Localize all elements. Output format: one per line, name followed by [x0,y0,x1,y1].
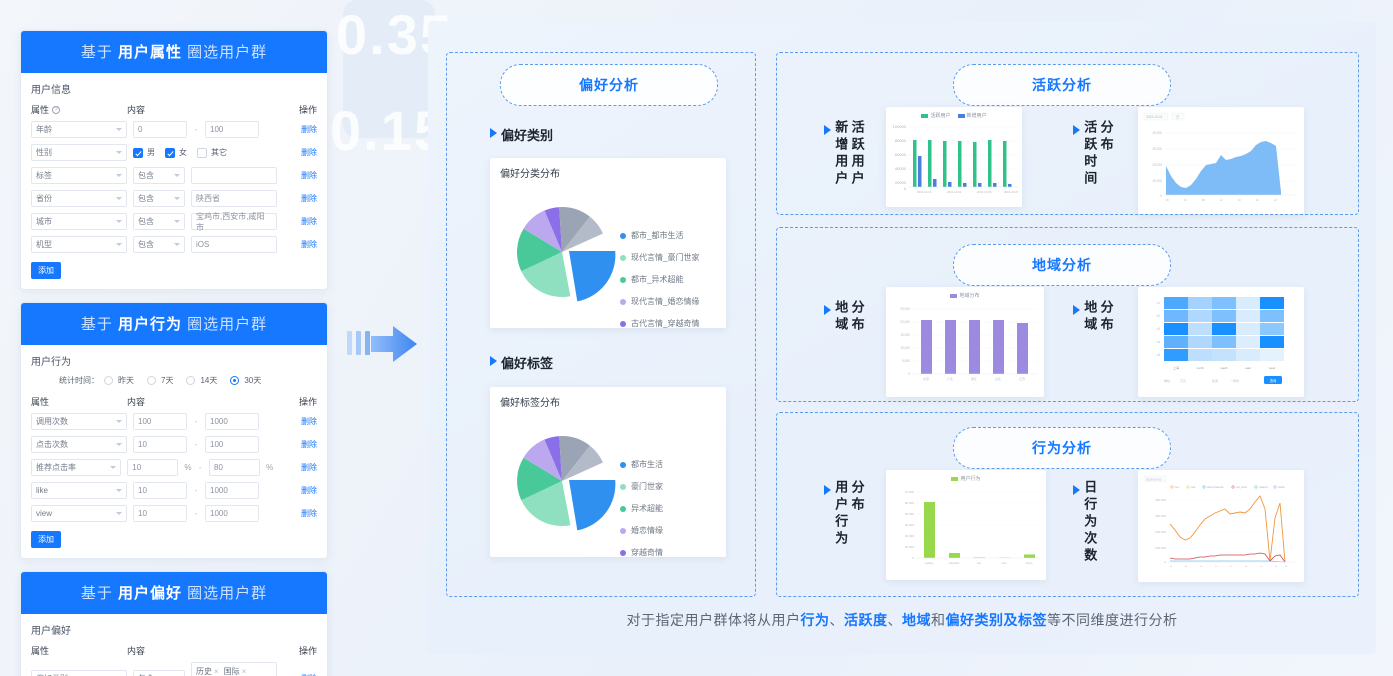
add-button[interactable]: 添加 [31,262,61,279]
column-headers: 属性 内容 操作 [31,395,317,408]
svg-text:20000: 20000 [895,180,907,185]
delete-link[interactable]: 删除 [283,485,317,496]
svg-text:add-to-favorite: add-to-favorite [1207,485,1224,489]
gender-checkbox-group: 男 女 其它 [133,147,277,158]
triangle-icon [824,305,831,315]
svg-text:east: east [1245,366,1251,370]
radio-30days[interactable] [230,376,239,385]
triangle-icon [1073,485,1080,495]
legend-item: 古代言情_穿越奇情 [620,318,699,328]
svg-text:west: west [1269,366,1275,370]
attribute-select[interactable]: 点击次数 [31,436,127,453]
delete-link[interactable]: 删除 [283,216,317,227]
subtitle-label: 偏好标签 [501,353,553,372]
legend-item: 现代言情_豪门世家 [620,252,699,263]
svg-text:2019-10-05: 2019-10-05 [977,190,992,194]
svg-text:others: others [1025,561,1033,565]
help-icon[interactable]: ? [52,106,60,114]
svg-text:查询: 查询 [1270,378,1276,383]
panel-title-suffix: 圈选用户群 [182,316,267,333]
legend-item: 都市生活 [620,459,663,470]
table-row: 城市 包含 宝鸡市,西安市,咸阳市 删除 [31,213,317,230]
svg-text:08: 08 [1202,199,1205,202]
checkbox-female[interactable] [165,148,175,158]
vlabel-distribution: 分布 [1098,300,1112,334]
card-user-behavior-bar: 用户行为 70,000 60,000 50,000 40,000 30,000 … [886,470,1046,580]
legend-dot [620,462,626,468]
svg-text:20,000: 20,000 [1152,163,1162,167]
min-input[interactable]: 0 [133,121,187,138]
legend-label: 穿越奇情 [631,547,663,557]
legend-item: 豪门世家 [620,481,663,492]
card-new-active-users-bar: 活跃用户 新增用户 100000 80000 60000 40000 20000… [886,107,1022,207]
chevron-down-icon [110,466,116,469]
bar-chart: 70,000 60,000 50,000 40,000 30,000 20,00… [886,482,1046,574]
svg-text:south: south [1220,366,1228,370]
svg-text:50,000: 50,000 [905,512,915,516]
attribute-select[interactable]: 偏好类别 [31,670,127,676]
legend-label: 现代言情_豪门世家 [631,252,699,263]
max-input[interactable]: 1000 [205,482,259,499]
caption-highlight-region: 地域 [902,612,931,628]
svg-text:reading: reading [1259,485,1268,489]
svg-text:0: 0 [908,372,910,376]
pill-label: 行为分析 [1032,438,1092,458]
attribute-select[interactable]: 标签 [31,167,127,184]
analysis-panel: 偏好分析 偏好类别 偏好分类分布 都市_都市生活 现代言情_豪门世家 都市_异术… [428,22,1376,654]
legend-dot [620,550,626,556]
svg-text:0: 0 [1164,560,1166,564]
chevron-down-icon [174,174,180,177]
svg-text:70,000: 70,000 [905,490,915,494]
caption-highlight-activity: 活跃度 [844,612,888,628]
svg-text:01: 01 [1170,566,1173,568]
svg-text:广东: 广东 [947,376,953,381]
svg-text:buy: buy [1175,485,1180,489]
arrow-trail-bars [347,331,370,355]
tag-input-category[interactable]: 历史× 国际× 军事× [191,662,277,676]
arrow-head-icon [371,326,417,362]
value-input[interactable]: iOS [191,236,277,253]
percent-unit-min: % [184,463,191,472]
value-input[interactable]: 宝鸡市,西安市,咸阳市 [191,213,277,230]
bottom-caption: 对于指定用户群体将从用户行为、活跃度、地域和偏好类别及标签等不同维度进行分析 [428,610,1376,630]
svg-text:80000: 80000 [895,138,907,143]
panel-user-behavior: 基于 用户行为 圈选用户群 用户行为 统计时间： 昨天 7天 14天 30天 属… [20,302,328,559]
table-row: like 10 - 1000 删除 [31,482,317,499]
legend-item: 都市_异术超能 [620,274,699,285]
svg-text:04: 04 [1184,199,1187,202]
vlabel-region: 地域 [833,300,847,334]
col-header-action: 操作 [283,395,317,408]
svg-text:view: view [1001,561,1006,565]
range-dash: - [193,417,199,426]
chevron-down-icon [116,443,122,446]
panel-title-prefix: 基于 [81,316,118,333]
svg-text:2019-10-01: 2019-10-01 [917,190,932,194]
pie-legend: 都市生活 豪门世家 异术超能 婚恋情缘 穿越奇情 [620,459,663,557]
svg-text:00: 00 [1166,199,1169,202]
svg-text:24: 24 [1285,566,1288,568]
chevron-down-icon [116,197,122,200]
table-row: 点击次数 10 - 100 删除 [31,436,317,453]
legend-label: 豪门世家 [631,481,663,492]
svg-text:30,000: 30,000 [905,534,915,538]
svg-text:25,000: 25,000 [900,307,910,311]
panel-user-attributes: 基于 用户属性 圈选用户群 用户信息 属性 ? 内容 操作 年龄 0 - 100… [20,30,328,290]
svg-text:60,000: 60,000 [905,501,915,505]
line-chart: 2019-10-01 buy cart add-to-favorite not_… [1138,470,1304,582]
attribute-select[interactable]: 省份 [31,190,127,207]
svg-text:20,000: 20,000 [905,545,915,549]
svg-text:2019-10-01: 2019-10-01 [1146,115,1163,119]
delete-link[interactable]: 删除 [283,124,317,135]
checkbox-label-male: 男 [147,147,155,158]
svg-text:10: 10 [1215,566,1218,568]
legend-dot [620,484,626,490]
table-row: view 10 - 1000 删除 [31,505,317,522]
triangle-icon [490,128,497,138]
flow-arrow [347,318,417,368]
section-label-user-behavior: 用户行为 [31,353,317,368]
chevron-down-icon [174,243,180,246]
col-header-content: 内容 [127,103,283,116]
table-row: 省份 包含 陕西省 删除 [31,190,317,207]
legend-item: 现代言情_婚恋情缘 [620,296,699,307]
legend-dot [620,321,626,327]
radio-label-yesterday: 昨天 [118,375,134,386]
delete-link[interactable]: 删除 [283,193,317,204]
range-dash: - [193,125,199,134]
chart-legend: 用户行为 [886,470,1046,482]
legend-item: 都市_都市生活 [620,230,699,241]
svg-text:19: 19 [1260,566,1263,568]
delete-link[interactable]: 删除 [283,170,317,181]
svg-text:浙江: 浙江 [971,376,977,381]
min-input[interactable]: 10 [133,436,187,453]
operator-select[interactable]: 包含 [133,236,185,253]
table-row: 机型 包含 iOS 删除 [31,236,317,253]
max-input[interactable]: 100 [205,121,259,138]
chevron-down-icon [116,128,122,131]
svg-text:15,000: 15,000 [900,333,910,337]
svg-text:16: 16 [1238,199,1241,202]
min-input[interactable]: 10 [133,482,187,499]
svg-text:300,000: 300,000 [1155,514,1166,518]
svg-text:100000: 100000 [893,124,907,129]
panel-title-prefix: 基于 [81,585,118,602]
operator-select[interactable]: 包含 [133,213,185,230]
legend-dot [620,528,626,534]
legend-label: 都市_都市生活 [631,230,683,241]
value-input[interactable]: 陕西省 [191,190,277,207]
vlabel-new-users: 新增用户 [833,120,847,188]
chevron-down-icon [116,243,122,246]
attribute-select[interactable]: view [31,505,127,522]
legend-item: 穿越奇情 [620,547,663,557]
panel-behavior-header: 基于 用户行为 圈选用户群 [21,303,327,345]
subtitle-preference-tag: 偏好标签 [490,353,553,372]
delete-link[interactable]: 删除 [283,416,317,427]
chevron-down-icon [116,174,122,177]
svg-text:2019-10-01: 2019-10-01 [1146,478,1162,482]
svg-text:23: 23 [1274,199,1277,202]
legend-item: 地域分布 [950,292,979,299]
pill-label: 地域分析 [1032,255,1092,275]
svg-text:5,000: 5,000 [902,359,910,363]
col-header-attribute: 属性 [31,395,49,408]
panel-user-preference: 基于 用户偏好 圈选用户群 用户偏好 属性 内容 操作 偏好类别 包含 历史× … [20,571,328,676]
vlabel-region: 地域 [1082,300,1096,334]
panel-preference-header: 基于 用户偏好 圈选用户群 [21,572,327,614]
svg-text:13: 13 [1230,566,1233,568]
area-chart: 2019-10-01 日 40,000 30,000 20,000 10,000… [1138,107,1304,214]
caption-part-2: 、 [830,612,845,628]
active-analysis-pill: 活跃分析 [953,64,1171,106]
pie-chart [490,409,726,549]
chevron-down-icon [116,489,122,492]
svg-text:v3: v3 [1157,327,1161,331]
left-config-column: 基于 用户属性 圈选用户群 用户信息 属性 ? 内容 操作 年龄 0 - 100… [20,30,328,676]
behavior-analysis-pill: 行为分析 [953,427,1171,469]
svg-text:江苏: 江苏 [1019,376,1025,381]
vlabel-distribution: 分布 [849,300,863,334]
operator-select[interactable]: 包含 [133,670,185,676]
delete-link[interactable]: 删除 [285,462,317,473]
svg-text:12: 12 [1220,199,1223,202]
chart-legend: 活跃用户 新增用户 [886,107,1022,119]
table-row: 年龄 0 - 100 删除 [31,121,317,138]
panel-title-highlight: 用户属性 [118,44,182,61]
checkbox-other[interactable] [197,148,207,158]
max-input[interactable]: 80 [209,459,260,476]
svg-text:10,000: 10,000 [900,346,910,350]
vlabel-distribution: 分布 [849,480,863,514]
radio-14days[interactable] [186,376,195,385]
svg-text:2019-10-03: 2019-10-03 [947,190,962,194]
max-input[interactable]: 1000 [205,505,259,522]
panel-title-suffix: 圈选用户群 [182,44,267,61]
svg-text:一周内: 一周内 [1230,378,1239,383]
label-region-distribution-right: 地域 分布 [1073,300,1141,334]
checkbox-male[interactable] [133,148,143,158]
legend-item: 活跃用户 [921,112,950,119]
legend-label: 都市_异术超能 [631,274,683,285]
caption-part-1: 对于指定用户群体将从用户 [627,612,801,628]
tag-chip[interactable]: 历史× [196,666,219,676]
chevron-down-icon [116,151,122,154]
attribute-select[interactable]: 调用次数 [31,413,127,430]
value-input[interactable] [191,167,277,184]
card-preference-category-pie: 偏好分类分布 都市_都市生活 现代言情_豪门世家 都市_异术超能 现代言情_婚恋… [490,158,726,328]
operator-select[interactable]: 包含 [133,190,185,207]
chevron-down-icon [174,220,180,223]
min-input[interactable]: 10 [133,505,187,522]
delete-link[interactable]: 删除 [283,439,317,450]
radio-label-14days: 14天 [200,375,217,386]
panel-title-prefix: 基于 [81,44,118,61]
col-header-content: 内容 [127,395,283,408]
caption-highlight-preference: 偏好类别及标签 [946,612,1048,628]
chart-title: 偏好标签分布 [490,387,726,409]
svg-text:reading: reading [925,561,934,565]
percent-unit-max: % [266,463,273,472]
svg-text:north: north [1197,366,1204,370]
caption-part-3: 、 [888,612,903,628]
legend-dot [620,233,626,239]
chevron-down-icon [116,512,122,515]
radio-7days[interactable] [147,376,156,385]
svg-text:30,000: 30,000 [1152,147,1162,151]
svg-text:60000: 60000 [895,152,907,157]
section-label-user-info: 用户信息 [31,81,317,96]
range-dash: - [193,440,199,449]
chevron-down-icon [174,197,180,200]
pill-label: 偏好分析 [579,75,639,95]
col-header-attribute: 属性 [31,644,49,657]
svg-text:07: 07 [1200,566,1203,568]
panel-attributes-header: 基于 用户属性 圈选用户群 [21,31,327,73]
svg-text:100,000: 100,000 [1155,546,1166,550]
svg-text:04: 04 [1185,566,1188,568]
caption-part-5: 等不同维度进行分析 [1047,612,1178,628]
legend-item: 新增用户 [958,112,987,119]
svg-text:区间: 区间 [1212,378,1218,383]
tag-remove-icon[interactable]: × [214,667,219,676]
vlabel-active-users: 活跃用户 [849,120,863,188]
time-range-label: 统计时间： [59,375,99,386]
caption-highlight-behavior: 行为 [801,612,830,628]
col-header-action: 操作 [283,103,317,116]
table-row: 偏好类别 包含 历史× 国际× 军事× 删除 [31,662,317,676]
svg-text:40000: 40000 [895,166,907,171]
svg-text:22: 22 [1275,566,1278,568]
pill-label: 活跃分析 [1032,75,1092,95]
delete-link[interactable]: 删除 [283,239,317,250]
card-daily-behavior-line: 2019-10-01 buy cart add-to-favorite not_… [1138,470,1304,582]
svg-text:400,000: 400,000 [1155,498,1166,502]
svg-text:单位:: 单位: [1164,378,1171,383]
svg-text:cart: cart [977,561,982,565]
panel-title-suffix: 圈选用户群 [182,585,267,602]
svg-text:万元: 万元 [1180,379,1186,383]
time-range-radio-group: 统计时间： 昨天 7天 14天 30天 [59,375,317,386]
radio-yesterday[interactable] [104,376,113,385]
legend-dot [620,506,626,512]
panel-title-highlight: 用户行为 [118,316,182,333]
svg-text:follow: follow [1278,485,1285,489]
preference-analysis-pill: 偏好分析 [500,64,718,106]
add-button[interactable]: 添加 [31,531,61,548]
svg-text:40,000: 40,000 [905,523,915,527]
svg-text:山东: 山东 [995,376,1001,381]
card-preference-tag-pie: 偏好标签分布 都市生活 豪门世家 异术超能 婚恋情缘 穿越奇情 [490,387,726,557]
card-active-time-area: 2019-10-01 日 40,000 30,000 20,000 10,000… [1138,107,1304,214]
operator-select[interactable]: 包含 [133,167,185,184]
attribute-select[interactable]: 推荐点击率 [31,459,121,476]
label-region-distribution-left: 地域 分布 [824,300,892,334]
svg-text:日: 日 [1176,115,1179,119]
attribute-select[interactable]: 年龄 [31,121,127,138]
svg-text:0: 0 [912,556,914,560]
svg-text:v5: v5 [1157,353,1161,357]
subtitle-label: 偏好类别 [501,125,553,144]
range-dash: - [193,509,199,518]
svg-text:10,000: 10,000 [1152,179,1162,183]
subtitle-preference-category: 偏好类别 [490,125,553,144]
legend-label: 异术超能 [631,503,663,514]
svg-text:0: 0 [1160,194,1162,198]
svg-text:v2: v2 [1157,314,1161,318]
max-input[interactable]: 100 [205,436,259,453]
region-analysis-pill: 地域分析 [953,244,1171,286]
chevron-down-icon [116,220,122,223]
svg-text:200,000: 200,000 [1155,530,1166,534]
caption-part-4: 和 [931,612,946,628]
table-row: 调用次数 100 - 1000 删除 [31,413,317,430]
max-input[interactable]: 1000 [205,413,259,430]
svg-text:2019-10-07: 2019-10-07 [1004,190,1019,194]
delete-link[interactable]: 删除 [283,508,317,519]
bar-chart: 100000 80000 60000 40000 20000 0 [886,119,1022,199]
svg-text:subscribe: subscribe [948,561,960,565]
range-dash: - [197,463,203,472]
legend-item: 异术超能 [620,503,663,514]
tag-remove-icon[interactable]: × [242,667,247,676]
chart-legend: 地域分布 [886,287,1044,299]
min-input[interactable]: 10 [127,459,178,476]
triangle-icon [1073,305,1080,315]
col-header-attribute: 属性 [31,103,49,116]
table-row: 标签 包含 删除 [31,167,317,184]
column-headers: 属性 ? 内容 操作 [31,103,317,116]
svg-text:cart: cart [1191,485,1196,489]
checkbox-label-other: 其它 [211,147,227,158]
legend-item: 用户行为 [951,475,980,482]
legend-label: 现代言情_婚恋情缘 [631,296,699,307]
section-label-user-preference: 用户偏好 [31,622,317,637]
pie-legend: 都市_都市生活 现代言情_豪门世家 都市_异术超能 现代言情_婚恋情缘 古代言情… [620,230,699,328]
delete-link[interactable]: 删除 [283,147,317,158]
tag-chip[interactable]: 国际× [224,666,247,676]
col-header-content: 内容 [127,644,283,657]
card-region-heatmap: v1v2v3 v4v5 上海nor [1138,287,1304,397]
heatmap-chart: v1v2v3 v4v5 上海nor [1138,287,1304,397]
attribute-select[interactable]: 性别 [31,144,127,161]
triangle-icon [1073,125,1080,135]
svg-text:v1: v1 [1157,301,1161,305]
vlabel-distribution: 分布 [1098,120,1112,154]
legend-label: 都市生活 [631,459,663,470]
svg-text:上海: 上海 [1173,365,1179,370]
attribute-select[interactable]: like [31,482,127,499]
radio-label-7days: 7天 [161,375,173,386]
svg-text:20: 20 [1256,199,1259,202]
checkbox-label-female: 女 [179,147,187,158]
attribute-select[interactable]: 机型 [31,236,127,253]
svg-text:北京: 北京 [923,376,929,381]
radio-label-30days: 30天 [244,375,261,386]
range-dash: - [193,486,199,495]
attribute-select[interactable]: 城市 [31,213,127,230]
table-row: 推荐点击率 10 % - 80 % 删除 [31,459,317,476]
min-input[interactable]: 100 [133,413,187,430]
legend-label: 古代言情_穿越奇情 [631,318,699,328]
triangle-icon [824,125,831,135]
triangle-icon [490,356,497,366]
legend-dot [620,299,626,305]
svg-text:20,000: 20,000 [900,320,910,324]
